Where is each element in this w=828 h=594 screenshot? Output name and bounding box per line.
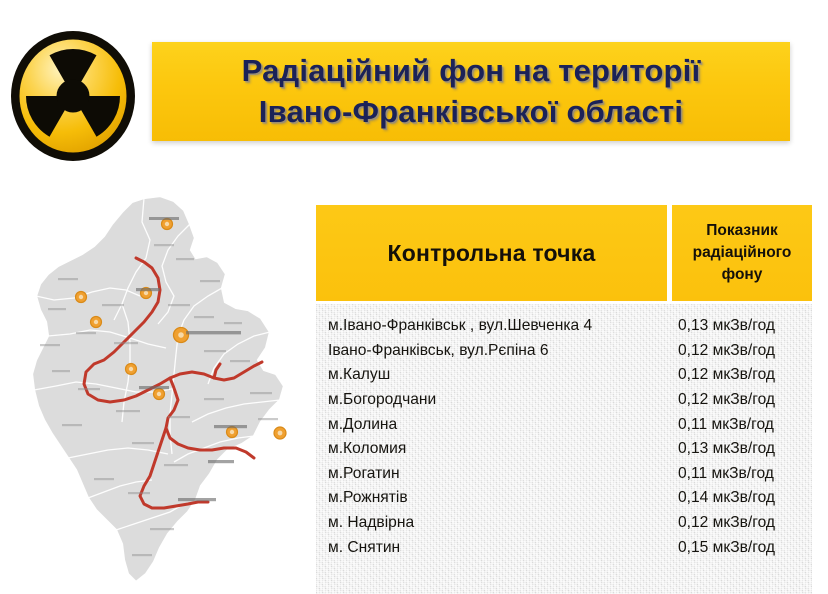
infographic-page: Радіаційний фон на території Івано-Франк… (0, 0, 828, 594)
cell-radiation-value: 0,12 мкЗв/год (667, 366, 812, 384)
table-row: м.Івано-Франківськ , вул.Шевченка 4 0,13… (316, 314, 812, 339)
column-header-radiation-line-1: Показник (693, 220, 792, 242)
column-header-radiation-value: Показник радіаційного фону (672, 205, 812, 301)
page-title-line-2: Івано-Франківської області (259, 92, 683, 132)
table-body: м.Івано-Франківськ , вул.Шевченка 4 0,13… (316, 304, 812, 594)
table-row: м.Богородчани 0,12 мкЗв/год (316, 388, 812, 413)
cell-control-point: м.Коломия (316, 440, 667, 458)
cell-control-point: м.Рогатин (316, 465, 667, 483)
table-row: м.Долина 0,11 мкЗв/год (316, 412, 812, 437)
table-header-row: Контрольна точка Показник радіаційного ф… (316, 205, 812, 301)
table-row: м. Надвірна 0,12 мкЗв/год (316, 511, 812, 536)
cell-radiation-value: 0,13 мкЗв/год (667, 317, 812, 335)
cell-control-point: м.Долина (316, 416, 667, 434)
cell-radiation-value: 0,12 мкЗв/год (667, 342, 812, 360)
table-row: Івано-Франківськ, вул.Рєпіна 6 0,12 мкЗв… (316, 339, 812, 364)
radiation-readings-table: Контрольна точка Показник радіаційного ф… (316, 205, 812, 594)
column-header-control-point: Контрольна точка (316, 205, 667, 301)
table-row: м.Калуш 0,12 мкЗв/год (316, 363, 812, 388)
cell-radiation-value: 0,11 мкЗв/год (667, 465, 812, 483)
column-header-radiation-line-2: радіаційного (693, 242, 792, 264)
cell-radiation-value: 0,11 мкЗв/год (667, 416, 812, 434)
table-row: м.Коломия 0,13 мкЗв/год (316, 437, 812, 462)
cell-control-point: м.Богородчани (316, 391, 667, 409)
cell-control-point: Івано-Франківськ, вул.Рєпіна 6 (316, 342, 667, 360)
cell-radiation-value: 0,13 мкЗв/год (667, 440, 812, 458)
column-header-control-point-label: Контрольна точка (388, 240, 596, 267)
page-title-line-1: Радіаційний фон на території (242, 51, 701, 91)
header: Радіаційний фон на території Івано-Франк… (0, 0, 828, 188)
cell-radiation-value: 0,12 мкЗв/год (667, 514, 812, 532)
column-header-radiation-line-3: фону (693, 264, 792, 286)
cell-control-point: м.Калуш (316, 366, 667, 384)
radiation-trefoil-icon (6, 26, 140, 164)
cell-radiation-value: 0,14 мкЗв/год (667, 489, 812, 507)
cell-control-point: м. Надвірна (316, 514, 667, 532)
title-banner: Радіаційний фон на території Івано-Франк… (152, 42, 790, 141)
cell-control-point: м.Рожнятів (316, 489, 667, 507)
table-row: м.Рогатин 0,11 мкЗв/год (316, 462, 812, 487)
cell-control-point: м.Івано-Франківськ , вул.Шевченка 4 (316, 317, 667, 335)
cell-radiation-value: 0,12 мкЗв/год (667, 391, 812, 409)
ivano-frankivsk-oblast-map (18, 192, 310, 588)
cell-control-point: м. Снятин (316, 539, 667, 557)
cell-radiation-value: 0,15 мкЗв/год (667, 539, 812, 557)
table-row: м.Рожнятів 0,14 мкЗв/год (316, 486, 812, 511)
table-row: м. Снятин 0,15 мкЗв/год (316, 535, 812, 560)
